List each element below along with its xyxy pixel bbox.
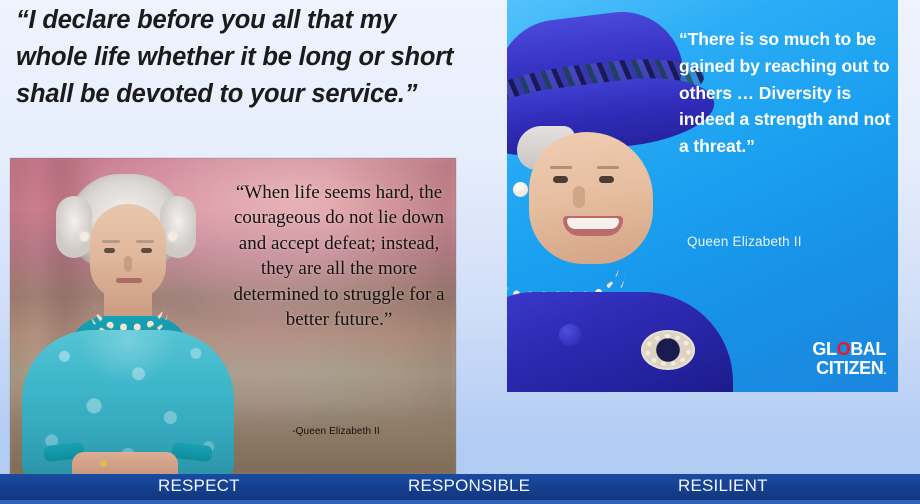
logo-text-citizen: CITIZEN <box>816 358 883 378</box>
global-citizen-logo-line2: CITIZEN. <box>812 359 886 381</box>
left-photo-quote-text: “When life seems hard, the courageous do… <box>232 180 446 332</box>
queen-eye-left <box>553 176 568 183</box>
logo-trademark-dot: . <box>883 365 886 377</box>
headline-quote: “I declare before you all that my whole … <box>16 2 456 113</box>
queen-nose <box>573 186 585 208</box>
queen-earring-right <box>168 232 177 241</box>
left-photo-quote-author: -Queen Elizabeth II <box>236 426 436 437</box>
global-citizen-logo-line1: GLOBAL <box>812 340 886 359</box>
logo-text-bal: BAL <box>850 339 886 359</box>
queen-sapphire-brooch <box>641 330 695 370</box>
queen-eyebrow-left <box>550 166 572 169</box>
logo-globe-o-icon: O <box>837 339 851 359</box>
queen-ring <box>100 460 107 467</box>
right-photo-quote-text: “There is so much to be gained by reachi… <box>679 26 893 160</box>
right-quote-image-card: “There is so much to be gained by reachi… <box>507 0 898 392</box>
queen-hands <box>72 452 178 474</box>
banner-word-respect: RESPECT <box>158 476 240 496</box>
queen-eye-right <box>599 176 614 183</box>
banner-word-responsible: RESPONSIBLE <box>408 476 530 496</box>
global-citizen-logo: GLOBAL CITIZEN. <box>812 340 886 380</box>
queen-smile <box>563 216 623 236</box>
queen-eyebrow-right <box>136 240 154 243</box>
queen-teeth <box>567 218 619 229</box>
queen-coat-button <box>559 324 581 346</box>
logo-text-gl: GL <box>812 339 836 359</box>
queen-pearl-earring <box>513 182 528 197</box>
queen-eyebrow-right <box>597 166 619 169</box>
right-photo-quote-author: Queen Elizabeth II <box>687 234 897 249</box>
left-quote-image-card: “When life seems hard, the courageous do… <box>10 158 456 474</box>
queen-eye-left <box>104 248 115 253</box>
queen-blue-coat <box>507 292 733 392</box>
values-banner: RESPECT RESPONSIBLE RESILIENT <box>0 474 920 500</box>
banner-bottom-strip <box>0 500 920 504</box>
queen-mouth <box>116 278 142 283</box>
queen-eye-right <box>141 248 152 253</box>
queen-eyebrow-left <box>102 240 120 243</box>
queen-face-smiling <box>529 132 653 264</box>
banner-word-resilient: RESILIENT <box>678 476 768 496</box>
queen-earring-left <box>80 232 89 241</box>
queen-portrait-teal <box>10 168 238 474</box>
queen-nose <box>124 256 132 272</box>
